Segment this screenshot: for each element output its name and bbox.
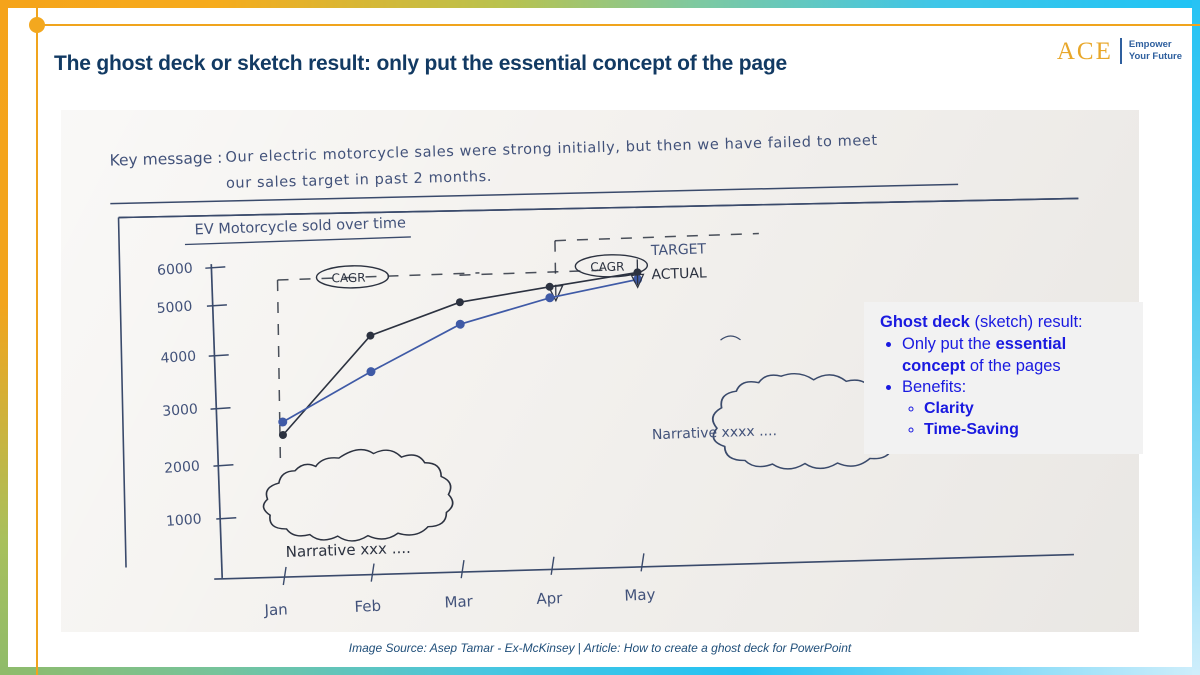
logo-wordmark: ACE	[1057, 39, 1113, 64]
left-gradient-border	[0, 0, 8, 675]
ytick-2000: 2000	[164, 458, 201, 476]
callout-bullet-1-pre: Only put the	[902, 335, 996, 353]
callout-bullet-1: Only put the essential concept of the pa…	[902, 334, 1129, 376]
bottom-gradient-bar	[0, 667, 1200, 675]
callout-sub-list: Clarity Time-Saving	[902, 398, 1129, 441]
series-label-target: TARGET	[650, 241, 707, 259]
actual-point-feb	[366, 367, 375, 376]
callout-bullet-list: Only put the essential concept of the pa…	[880, 334, 1129, 397]
image-caption: Image Source: Asep Tamar - Ex-McKinsey|A…	[0, 641, 1200, 655]
series-label-actual: ACTUAL	[651, 265, 707, 283]
xtick-apr: Apr	[536, 589, 564, 608]
ytick-6000: 6000	[157, 261, 194, 279]
logo-tagline-line1: Empower	[1129, 39, 1182, 51]
callout-box: Ghost deck (sketch) result: Only put the…	[864, 302, 1143, 454]
key-message-label: Key message :	[109, 149, 222, 170]
logo-tagline: Empower Your Future	[1129, 39, 1182, 62]
right-gradient-border	[1192, 0, 1200, 675]
key-message-line1: Our electric motorcycle sales were stron…	[225, 133, 878, 166]
top-gradient-bar	[0, 0, 1200, 8]
xtick-feb: Feb	[354, 597, 381, 616]
callout-sub-2: Time-Saving	[924, 419, 1129, 441]
ytick-1000: 1000	[166, 511, 203, 529]
caption-separator: |	[575, 641, 584, 655]
narrative-1-text: Narrative xxx ....	[285, 539, 411, 561]
xtick-jan: Jan	[263, 600, 288, 619]
key-message-line2: our sales target in past 2 months.	[226, 169, 492, 192]
xtick-may: May	[624, 585, 656, 604]
header-rule-horizontal	[36, 24, 1200, 26]
caption-source: Image Source: Asep Tamar - Ex-McKinsey	[349, 641, 575, 655]
target-point-mar	[456, 298, 464, 306]
page-title: The ghost deck or sketch result: only pu…	[54, 52, 954, 76]
header-rule-vertical	[36, 8, 38, 675]
ace-logo: ACE Empower Your Future	[1057, 38, 1182, 64]
callout-heading-rest: (sketch) result:	[970, 313, 1083, 331]
logo-tagline-line2: Your Future	[1129, 51, 1182, 63]
narrative-2-text: Narrative xxxx ....	[652, 423, 777, 443]
caption-article: Article: How to create a ghost deck for …	[584, 641, 851, 655]
narrative-cloud-1: Narrative xxx ....	[263, 448, 454, 561]
callout-bullet-2: Benefits:	[902, 377, 1129, 398]
actual-point-mar	[456, 320, 465, 329]
callout-bullet-1-post: of the pages	[965, 357, 1060, 375]
callout-heading-bold: Ghost deck	[880, 313, 970, 331]
ytick-4000: 4000	[160, 349, 197, 367]
callout-heading: Ghost deck (sketch) result:	[880, 312, 1129, 333]
xtick-mar: Mar	[444, 592, 474, 611]
ytick-5000: 5000	[156, 299, 193, 317]
cagr-label-1: CAGR	[331, 271, 365, 286]
accent-dot	[29, 17, 45, 33]
target-point-apr	[546, 283, 554, 291]
cagr-label-2: CAGR	[590, 260, 624, 275]
callout-sub-1: Clarity	[924, 398, 1129, 420]
ytick-3000: 3000	[162, 401, 199, 419]
slide-canvas: The ghost deck or sketch result: only pu…	[0, 0, 1200, 675]
logo-divider	[1120, 38, 1122, 64]
chart-title: EV Motorcycle sold over time	[194, 215, 406, 238]
